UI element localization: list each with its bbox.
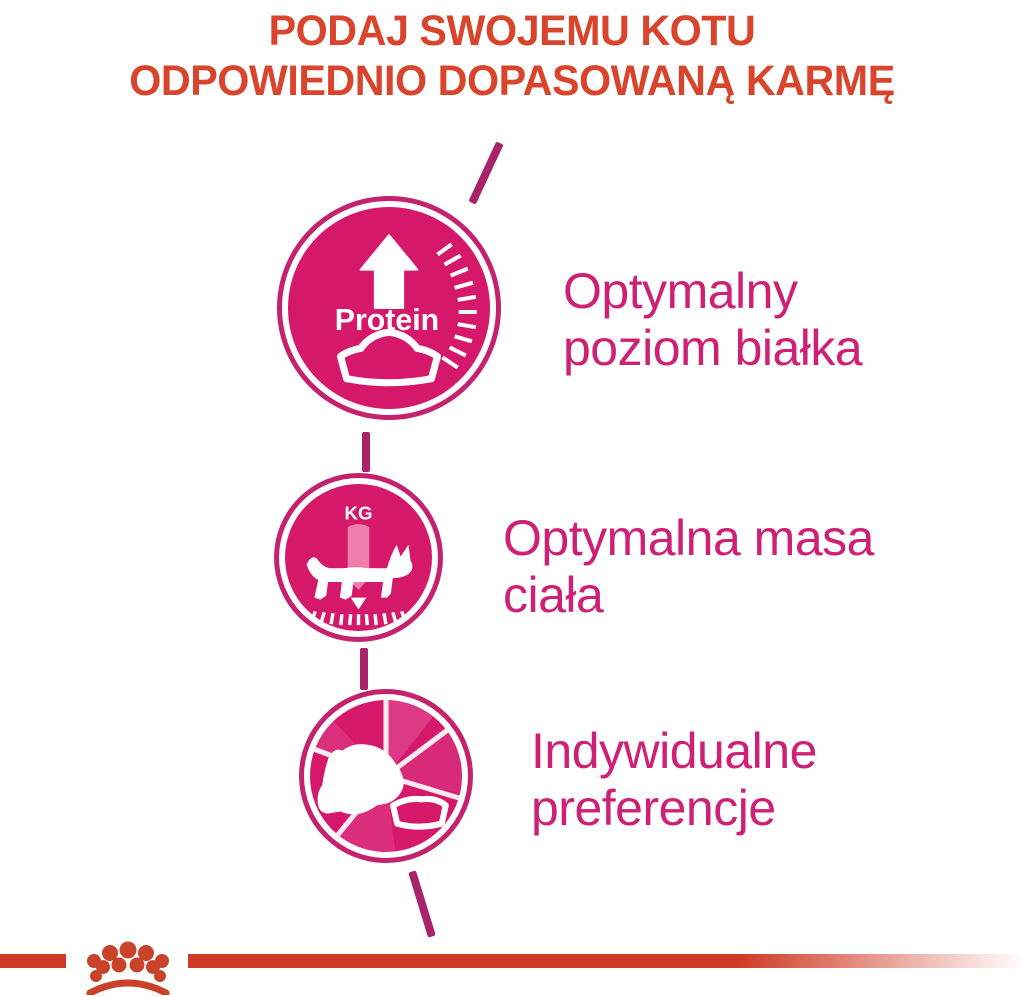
footer-bar-left	[0, 954, 66, 968]
dashed-connector-weight-to-preferences	[360, 648, 368, 690]
feature-label-protein-line-2: poziom białka	[563, 320, 1003, 377]
feature-label-preferences: Indywidualne preferencje	[531, 723, 1001, 837]
feature-label-preferences-line-1: Indywidualne	[531, 723, 1001, 780]
footer-bar-right	[188, 954, 1024, 968]
dashed-connector-protein-to-weight	[362, 432, 370, 472]
protein-icon-graphic: Protein	[288, 207, 490, 409]
feature-flow: Protein	[0, 0, 1024, 997]
feature-label-protein: Optymalny poziom białka	[563, 263, 1003, 377]
preferences-icon-graphic	[310, 700, 462, 852]
feature-label-weight-line-2: ciała	[503, 567, 1023, 624]
cat-eating-bowl-icon	[310, 700, 462, 852]
feature-label-weight: Optymalna masa ciała	[503, 510, 1023, 624]
feature-label-preferences-line-2: preferencje	[531, 780, 1001, 837]
crown-icon	[72, 929, 184, 995]
dashed-connector-top	[468, 141, 503, 204]
cat-weight-icon: KG	[285, 484, 432, 631]
feature-label-weight-line-1: Optymalna masa	[503, 510, 1023, 567]
feature-label-protein-line-1: Optymalny	[563, 263, 1003, 320]
kg-icon-text: KG	[345, 502, 373, 523]
poster-root: PODAJ SWOJEMU KOTU ODPOWIEDNIO DOPASOWAN…	[0, 0, 1024, 997]
royal-canin-crown-logo	[72, 929, 184, 995]
footer	[0, 927, 1024, 997]
cat-weight-icon-graphic: KG	[285, 484, 432, 631]
protein-bowl-icon: Protein	[288, 207, 490, 409]
